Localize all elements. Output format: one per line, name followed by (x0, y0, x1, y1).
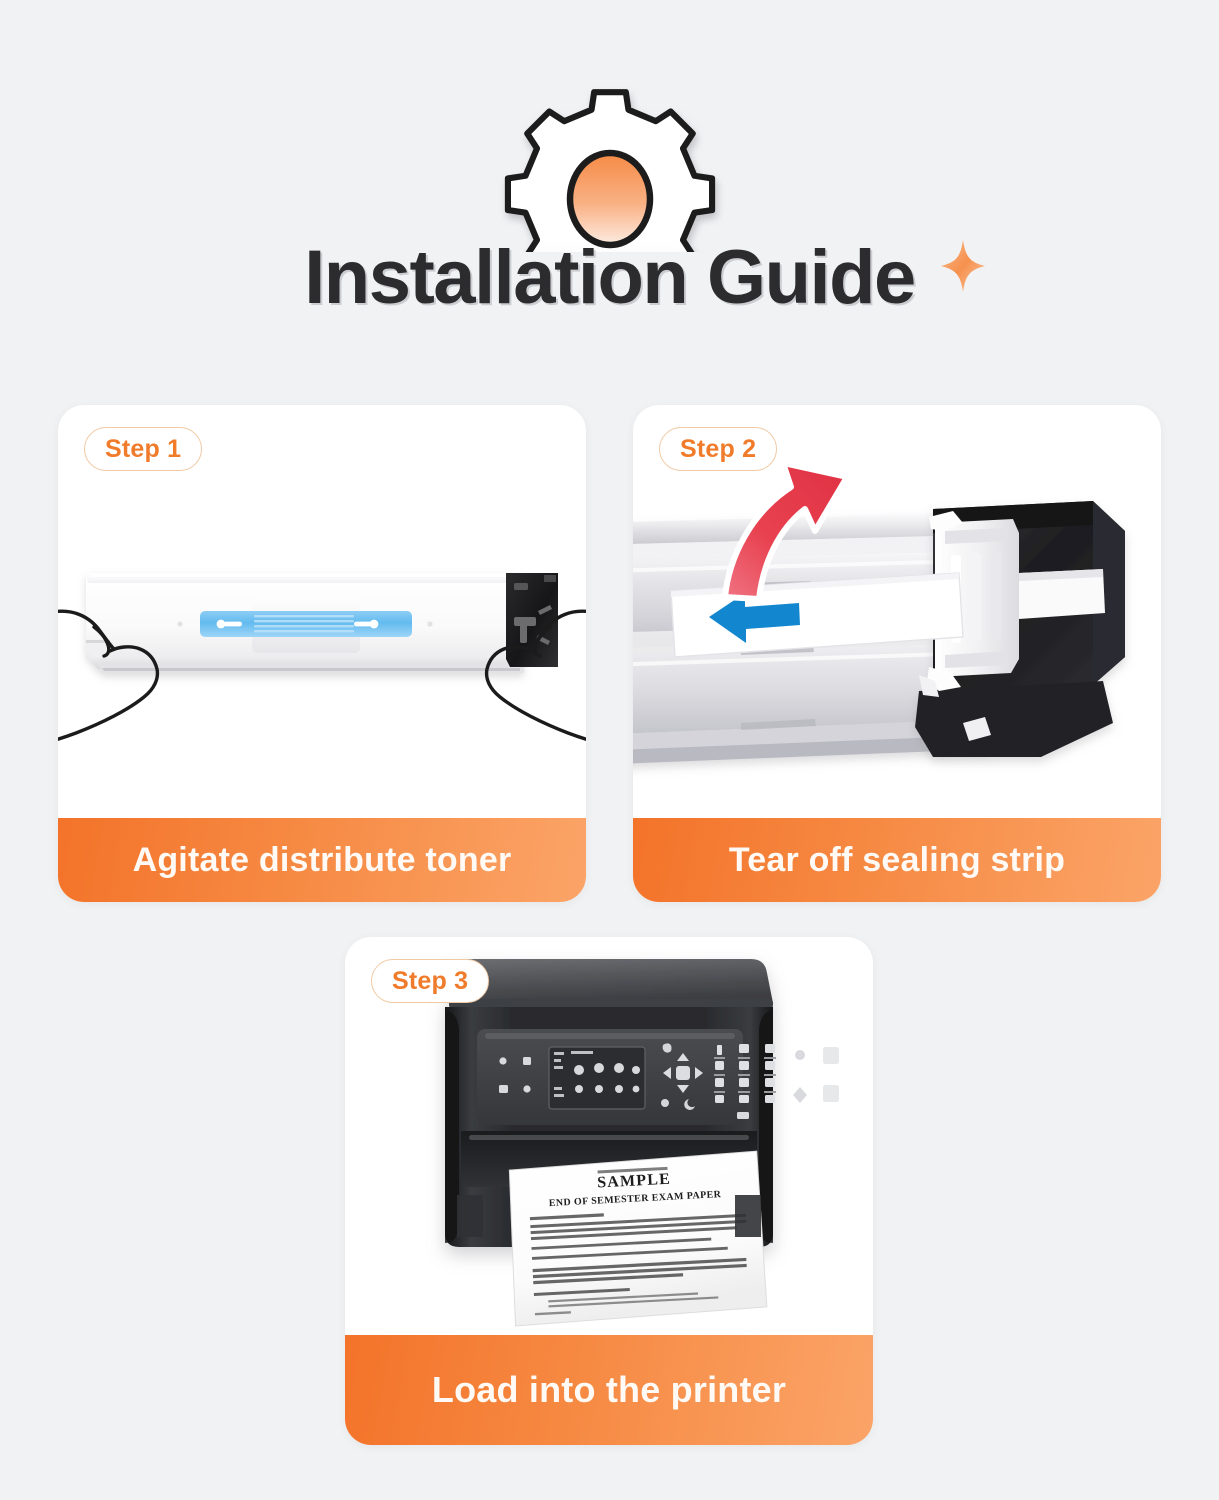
step-caption-2: Tear off sealing strip (633, 818, 1161, 902)
step-caption-1: Agitate distribute toner (58, 818, 586, 902)
step-badge-2: Step 2 (659, 427, 777, 471)
step-caption-3: Load into the printer (345, 1335, 873, 1445)
step-badge-1: Step 1 (84, 427, 202, 471)
step-card-2[interactable]: Step 2 Tear off sealing strip (633, 405, 1161, 902)
installation-guide-page: Installation Guide (0, 0, 1219, 1500)
gear-icon (495, 82, 725, 252)
page-title-row: Installation Guide (0, 240, 1219, 340)
step-badge-3: Step 3 (371, 959, 489, 1003)
toner-cartridge-with-hands (58, 555, 586, 818)
page-header: Installation Guide (0, 0, 1219, 370)
step-card-1[interactable]: Step 1 Agitate distribute toner (58, 405, 586, 902)
page-title: Installation Guide (304, 240, 915, 316)
step-card-3[interactable]: SAMPLE END OF SEMESTER EXAM PAPER (345, 937, 873, 1445)
sparkle-icon (938, 238, 988, 294)
